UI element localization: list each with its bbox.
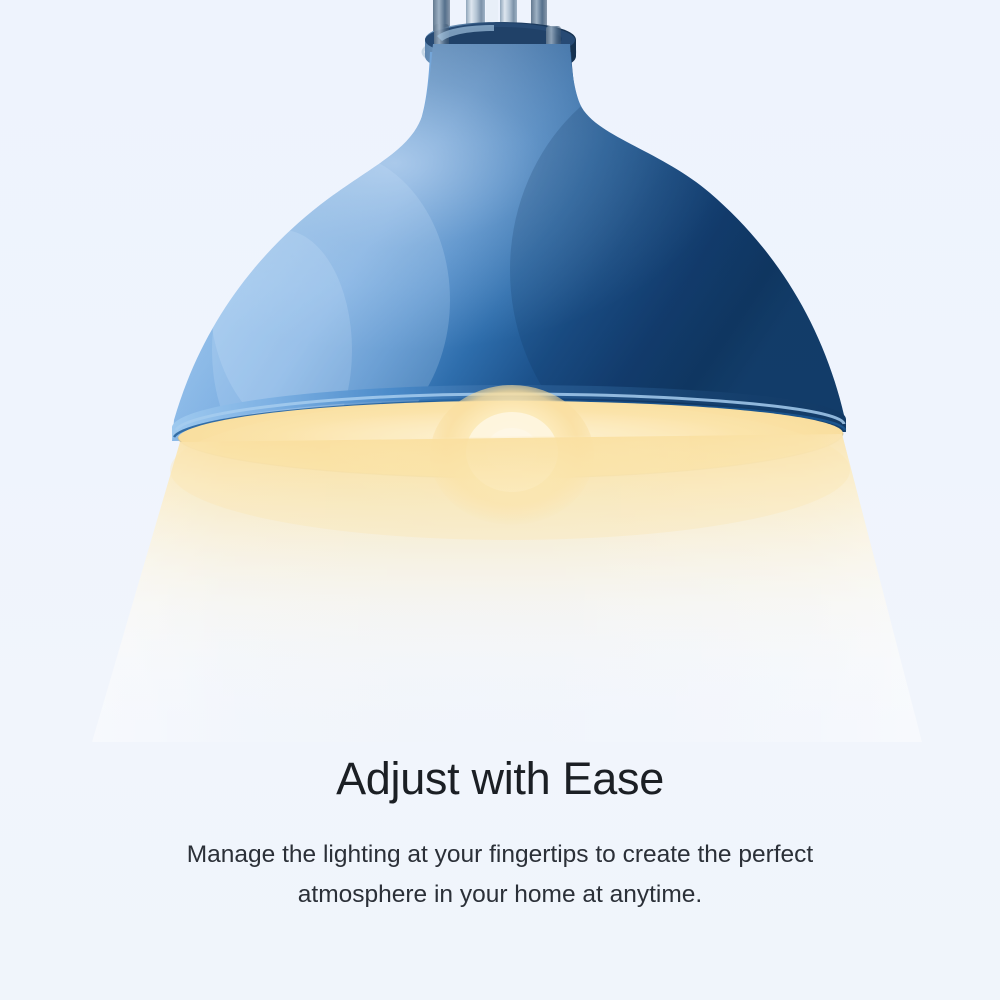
- page-title: Adjust with Ease: [80, 752, 920, 805]
- caption-block: Adjust with Ease Manage the lighting at …: [0, 752, 1000, 914]
- lamp-feature-card: Adjust with Ease Manage the lighting at …: [0, 0, 1000, 1000]
- page-description: Manage the lighting at your fingertips t…: [130, 835, 870, 914]
- ambient-bloom: [170, 400, 850, 540]
- pendant-lamp-illustration: [0, 0, 1000, 760]
